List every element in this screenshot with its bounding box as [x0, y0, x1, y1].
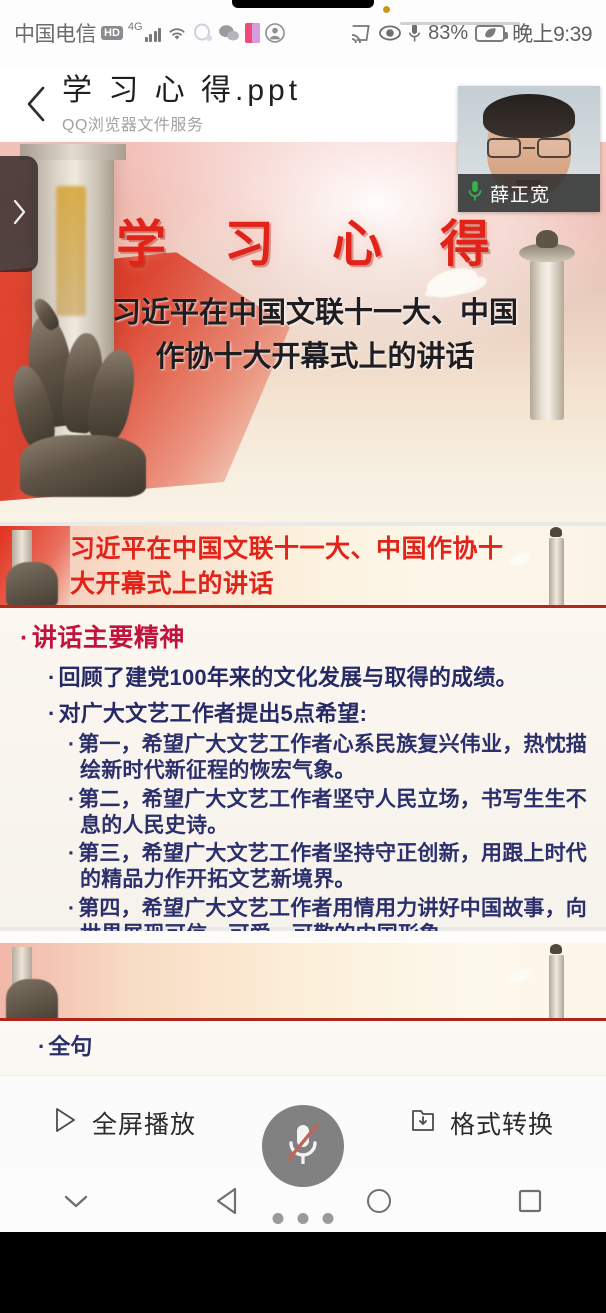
- slide-1-subtitle-line2: 作协十大开幕式上的讲话: [62, 336, 568, 380]
- wifi-icon: [166, 24, 188, 42]
- wechat-icon: [218, 24, 240, 42]
- format-convert-button[interactable]: 格式转换: [358, 1105, 606, 1141]
- slide-2-bullet-0: 回顾了建党100年来的文化发展与取得的成绩。: [48, 660, 606, 692]
- slide-1-title: 学 习 心 得: [0, 204, 606, 276]
- hd-badge: HD: [101, 26, 123, 40]
- banner-dove: [507, 969, 531, 985]
- home-indicator-dots: [273, 1213, 334, 1224]
- display-notch: [232, 0, 374, 8]
- carrier-label: 中国电信: [14, 18, 96, 48]
- banner-line-1: 习近平在中国文联十一大、中国作协十: [70, 532, 530, 567]
- slide-3: 全句: [0, 931, 606, 1075]
- fullscreen-play-label: 全屏播放: [92, 1105, 196, 1141]
- slide-2-subbullet-2: 第三，希望广大文艺工作者坚持守正创新，用跟上时代的精品力作开拓文艺新境界。: [68, 841, 590, 894]
- signal-bars-icon: [145, 25, 162, 42]
- qq-icon: [193, 23, 213, 43]
- play-triangle-icon: [52, 1106, 78, 1141]
- slide-3-banner: [0, 943, 606, 1021]
- chevron-right-icon: [10, 197, 28, 232]
- slide-3-title: 全句: [38, 1029, 92, 1061]
- network-type-label: 4G: [128, 21, 143, 33]
- pip-name-bar: 薛正宽: [458, 174, 600, 212]
- account-icon: [265, 23, 285, 43]
- eye-care-icon: [379, 24, 401, 42]
- banner-statue: [6, 562, 58, 608]
- banner-huabiao: [549, 538, 564, 608]
- cast-icon: [350, 23, 372, 43]
- slide-2: 习近平在中国文联十一大、中国作协十 大开幕式上的讲话 讲话主要精神 回顾了建党1…: [0, 526, 606, 927]
- banner-huabiao: [549, 955, 564, 1021]
- battery-eco-icon: [475, 25, 505, 42]
- slide-2-subbullet-0: 第一，希望广大文艺工作者心系民族复兴伟业，热忱描绘新时代新征程的恢宏气象。: [68, 732, 590, 785]
- microphone-muted-icon: [281, 1119, 325, 1174]
- document-viewport[interactable]: 学 习 心 得 习近平在中国文联十一大、中国 作协十大开幕式上的讲话 习近平在中…: [0, 142, 606, 1075]
- sim-card-icon: [245, 23, 260, 43]
- notch-camera-dot: [383, 6, 390, 13]
- edge-drawer-handle[interactable]: [0, 156, 38, 272]
- slide-1-subtitle-line1: 习近平在中国文联十一大、中国: [62, 292, 568, 336]
- slide-2-bullet-1: 对广大文艺工作者提出5点希望:: [48, 696, 606, 728]
- status-bar: 中国电信 HD 4G: [0, 0, 606, 66]
- bottom-black-area: [0, 1232, 606, 1313]
- slide-2-banner-text: 习近平在中国文联十一大、中国作协十 大开幕式上的讲话: [70, 532, 530, 601]
- download-box-icon: [410, 1106, 436, 1141]
- fullscreen-play-button[interactable]: 全屏播放: [0, 1105, 248, 1141]
- mute-toggle-button[interactable]: [262, 1105, 344, 1187]
- participant-glasses: [485, 138, 573, 160]
- back-chevron-icon[interactable]: [16, 82, 56, 126]
- page-subtitle: QQ浏览器文件服务: [62, 111, 301, 135]
- recents-square-icon[interactable]: [455, 1170, 606, 1232]
- clock-label: 晚上9:39: [512, 18, 592, 48]
- collapse-chevron-icon[interactable]: [0, 1170, 152, 1232]
- video-pip[interactable]: 薛正宽: [458, 86, 600, 212]
- header-titles: 学 习 心 得.ppt QQ浏览器文件服务: [62, 74, 301, 135]
- slide-2-banner: 习近平在中国文联十一大、中国作协十 大开幕式上的讲话: [0, 526, 606, 608]
- slide-1-subtitle: 习近平在中国文联十一大、中国 作协十大开幕式上的讲话: [62, 292, 568, 379]
- format-convert-label: 格式转换: [450, 1105, 554, 1141]
- banner-line-2: 大开幕式上的讲话: [70, 567, 530, 602]
- participant-hair: [483, 94, 575, 138]
- slide-2-subbullet-1: 第二，希望广大文艺工作者坚守人民立场，书写生生不息的人民史诗。: [68, 787, 590, 840]
- microphone-on-icon: [468, 180, 482, 207]
- microphone-icon: [408, 23, 421, 43]
- phone-screen: 中国电信 HD 4G: [0, 0, 606, 1313]
- banner-statue: [6, 979, 58, 1021]
- participant-name: 薛正宽: [490, 180, 550, 207]
- slide-2-heading: 讲话主要精神: [20, 618, 606, 654]
- page-title: 学 习 心 得.ppt: [62, 74, 301, 107]
